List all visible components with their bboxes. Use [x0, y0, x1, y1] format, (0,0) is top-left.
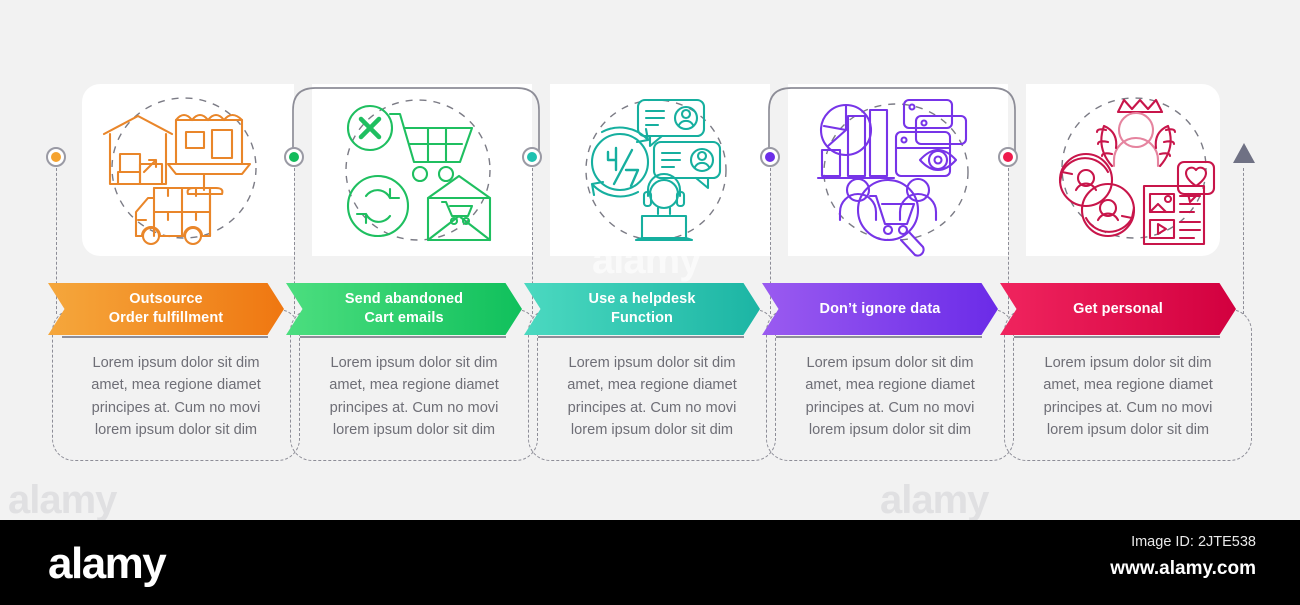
step-2[interactable]: Send abandoned Cart emails: [286, 283, 522, 335]
step-1-label-line2: Order fulfillment: [109, 310, 224, 326]
abandoned-cart-email-icon: [332, 90, 512, 250]
step-3-label-line1: Use a helpdesk: [589, 291, 696, 307]
step-4-label-line1: Don’t ignore data: [820, 301, 941, 317]
step-5-body: Lorem ipsum dolor sit dim amet, mea regi…: [1025, 352, 1231, 441]
step-5[interactable]: Get personal: [1000, 283, 1236, 335]
icon-cell-2: [312, 84, 532, 256]
step-1[interactable]: Outsource Order fulfillment: [48, 283, 284, 335]
end-arrow-up-icon: [1233, 143, 1255, 163]
step-3[interactable]: Use a helpdesk Function: [524, 283, 760, 335]
timeline-dot-1[interactable]: [46, 147, 66, 167]
personalization-vip-customer-icon: [1046, 90, 1226, 250]
step-3-rule: [538, 336, 744, 338]
panel-seam: [1008, 84, 1026, 256]
helpdesk-support-24-7-icon: [570, 90, 750, 250]
step-5-label-line1: Get personal: [1073, 301, 1163, 317]
step-4-chevron[interactable]: Don’t ignore data: [762, 283, 998, 335]
step-4-body: Lorem ipsum dolor sit dim amet, mea regi…: [787, 352, 993, 441]
alamy-logo: alamy: [48, 542, 165, 586]
panel-seam: [294, 84, 312, 256]
panel-seam: [532, 84, 550, 256]
step-3-chevron[interactable]: Use a helpdesk Function: [524, 283, 760, 335]
step-2-rule: [300, 336, 506, 338]
icon-cell-3: [550, 84, 770, 256]
step-1-label-line1: Outsource: [129, 291, 202, 307]
watermark-alamy: alamy: [8, 478, 116, 523]
alamy-url[interactable]: www.alamy.com: [956, 558, 1256, 580]
step-4[interactable]: Don’t ignore data: [762, 283, 998, 335]
timeline-dot-5[interactable]: [998, 147, 1018, 167]
step-2-label-line1: Send abandoned: [345, 291, 463, 307]
step-2-chevron[interactable]: Send abandoned Cart emails: [286, 283, 522, 335]
step-2-label-line2: Cart emails: [364, 310, 443, 326]
step-3-label-line2: Function: [611, 310, 673, 326]
step-3-body: Lorem ipsum dolor sit dim amet, mea regi…: [549, 352, 755, 441]
panel-seam: [770, 84, 788, 256]
icon-cell-5: [1026, 84, 1246, 256]
infographic-canvas: alamy alamy alamy: [0, 0, 1300, 605]
timeline-dot-2[interactable]: [284, 147, 304, 167]
analytics-data-charts-icon: [808, 90, 988, 250]
warehouse-storefront-delivery-icon: [92, 90, 272, 250]
icon-cell-4: [788, 84, 1008, 256]
image-id: Image ID: 2JTE538: [956, 534, 1256, 550]
timeline-dot-4[interactable]: [760, 147, 780, 167]
step-5-rule: [1014, 336, 1220, 338]
step-5-chevron[interactable]: Get personal: [1000, 283, 1236, 335]
step-1-chevron[interactable]: Outsource Order fulfillment: [48, 283, 284, 335]
alamy-footer: alamy Image ID: 2JTE538 www.alamy.com: [0, 520, 1300, 605]
step-4-rule: [776, 336, 982, 338]
step-1-rule: [62, 336, 268, 338]
step-1-body: Lorem ipsum dolor sit dim amet, mea regi…: [73, 352, 279, 441]
icon-cell-1: [72, 84, 292, 256]
timeline-dot-3[interactable]: [522, 147, 542, 167]
watermark-alamy: alamy: [880, 478, 988, 523]
step-2-body: Lorem ipsum dolor sit dim amet, mea regi…: [311, 352, 517, 441]
